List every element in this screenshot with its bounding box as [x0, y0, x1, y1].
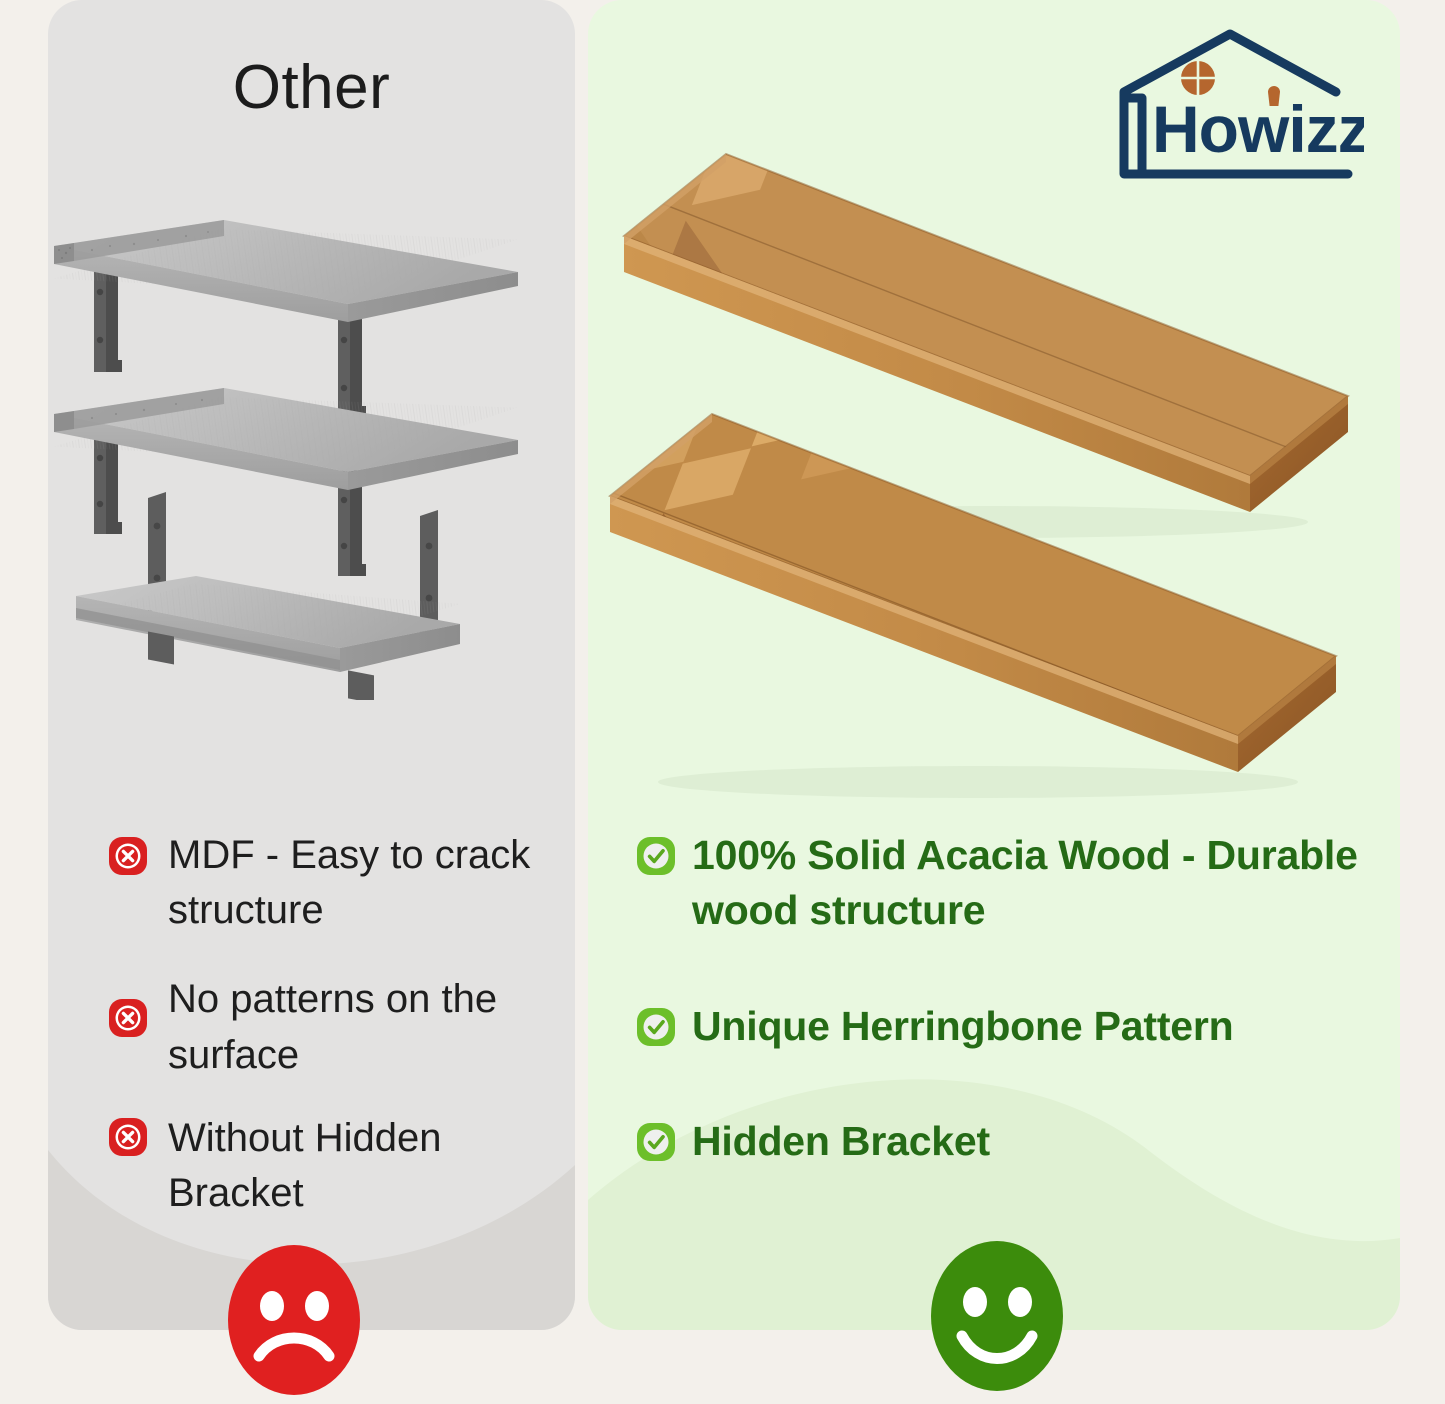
page-title: Other: [48, 52, 575, 123]
x-circle-icon: [108, 836, 148, 876]
mdf-shelf-1: [50, 200, 521, 418]
list-item: No patterns on the surface: [108, 972, 568, 1082]
list-item: Hidden Bracket: [636, 1114, 1376, 1169]
check-circle-icon: [636, 1007, 676, 1047]
list-item: Without Hidden Bracket: [108, 1111, 568, 1221]
x-circle-icon: [108, 998, 148, 1038]
check-circle-icon: [636, 836, 676, 876]
list-item-label: 100% Solid Acacia Wood - Durable wood st…: [692, 828, 1376, 937]
list-item-label: No patterns on the surface: [168, 972, 568, 1082]
list-item: Unique Herringbone Pattern: [636, 999, 1376, 1054]
benefit-list: 100% Solid Acacia Wood - Durable wood st…: [636, 828, 1376, 1198]
list-item-label: Unique Herringbone Pattern: [692, 999, 1234, 1054]
list-item-label: MDF - Easy to crack structure: [168, 828, 568, 938]
comparison-infographic: Other: [0, 0, 1445, 1404]
mdf-shelf-2: [50, 356, 521, 576]
list-item: MDF - Easy to crack structure: [108, 828, 568, 938]
drawback-list: MDF - Easy to crack structure No pattern…: [108, 828, 568, 1251]
list-item-label: Hidden Bracket: [692, 1114, 990, 1169]
gray-mdf-shelves-illustration: [48, 200, 575, 700]
other-brand-panel: Other: [48, 0, 575, 1330]
happy-face-icon: [930, 1240, 1064, 1392]
sad-face-icon: [227, 1244, 361, 1396]
list-item: 100% Solid Acacia Wood - Durable wood st…: [636, 828, 1376, 937]
mdf-shelf-3: [73, 492, 462, 700]
acacia-herringbone-shelves-illustration: [588, 60, 1400, 800]
howizz-brand-panel: Howizz: [588, 0, 1400, 1330]
check-circle-icon: [636, 1122, 676, 1162]
list-item-label: Without Hidden Bracket: [168, 1111, 568, 1221]
x-circle-icon: [108, 1117, 148, 1157]
